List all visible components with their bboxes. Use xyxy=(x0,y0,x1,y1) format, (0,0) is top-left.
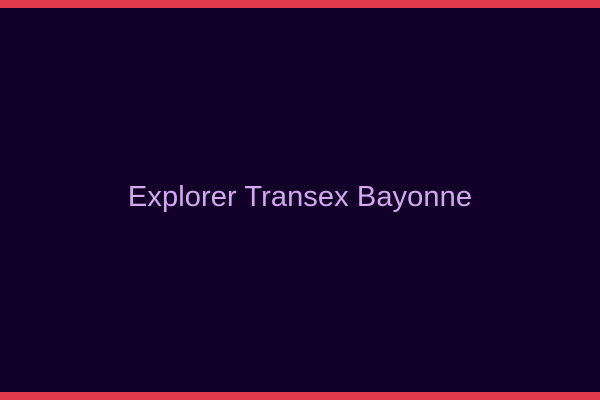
bottom-accent-bar xyxy=(0,392,600,400)
placeholder-caption: Explorer Transex Bayonne xyxy=(0,0,600,400)
placeholder-banner: Explorer Transex Bayonne xyxy=(0,0,600,400)
